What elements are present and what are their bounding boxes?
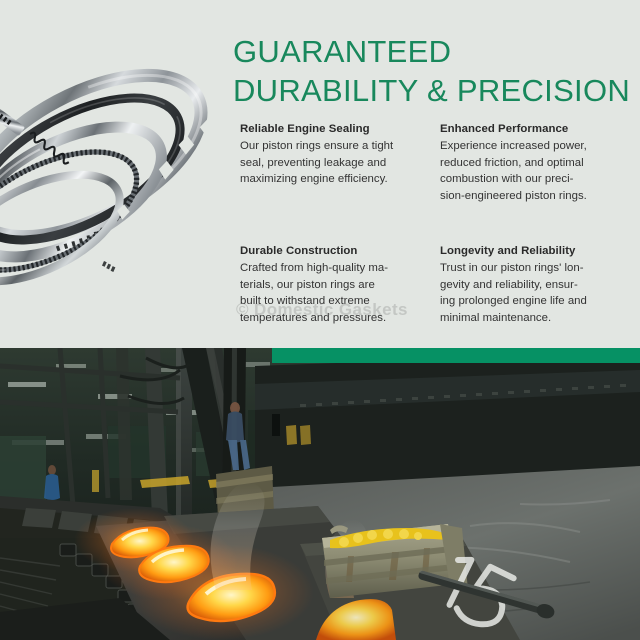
top-panel: GUARANTEED DURABILITY & PRECISION Reliab…	[0, 0, 640, 348]
feature-body: Experience increased power, reduced fric…	[440, 138, 630, 204]
feature-body: Our piston rings ensure a tight seal, pr…	[240, 138, 430, 188]
feature-body: Trust in our piston rings' lon- gevity a…	[440, 260, 630, 326]
feature-title: Enhanced Performance	[440, 122, 630, 137]
feature-grid: Reliable Engine Sealing Our piston rings…	[240, 122, 632, 327]
product-image-piston-rings	[0, 6, 226, 336]
feature-title: Reliable Engine Sealing	[240, 122, 430, 137]
green-accent-bar	[272, 348, 640, 363]
feature-card-enhanced-performance: Enhanced Performance Experience increase…	[440, 122, 630, 244]
feature-body: Crafted from high-quality ma- terials, o…	[240, 260, 430, 326]
feature-card-reliable-engine-sealing: Reliable Engine Sealing Our piston rings…	[240, 122, 430, 244]
feature-title: Longevity and Reliability	[440, 244, 630, 259]
feature-card-durable-construction: Durable Construction Crafted from high-q…	[240, 244, 430, 327]
feature-title: Durable Construction	[240, 244, 430, 259]
feature-card-longevity-and-reliability: Longevity and Reliability Trust in our p…	[440, 244, 630, 327]
factory-forge-photo	[0, 348, 640, 640]
page-headline: GUARANTEED DURABILITY & PRECISION	[233, 32, 633, 110]
